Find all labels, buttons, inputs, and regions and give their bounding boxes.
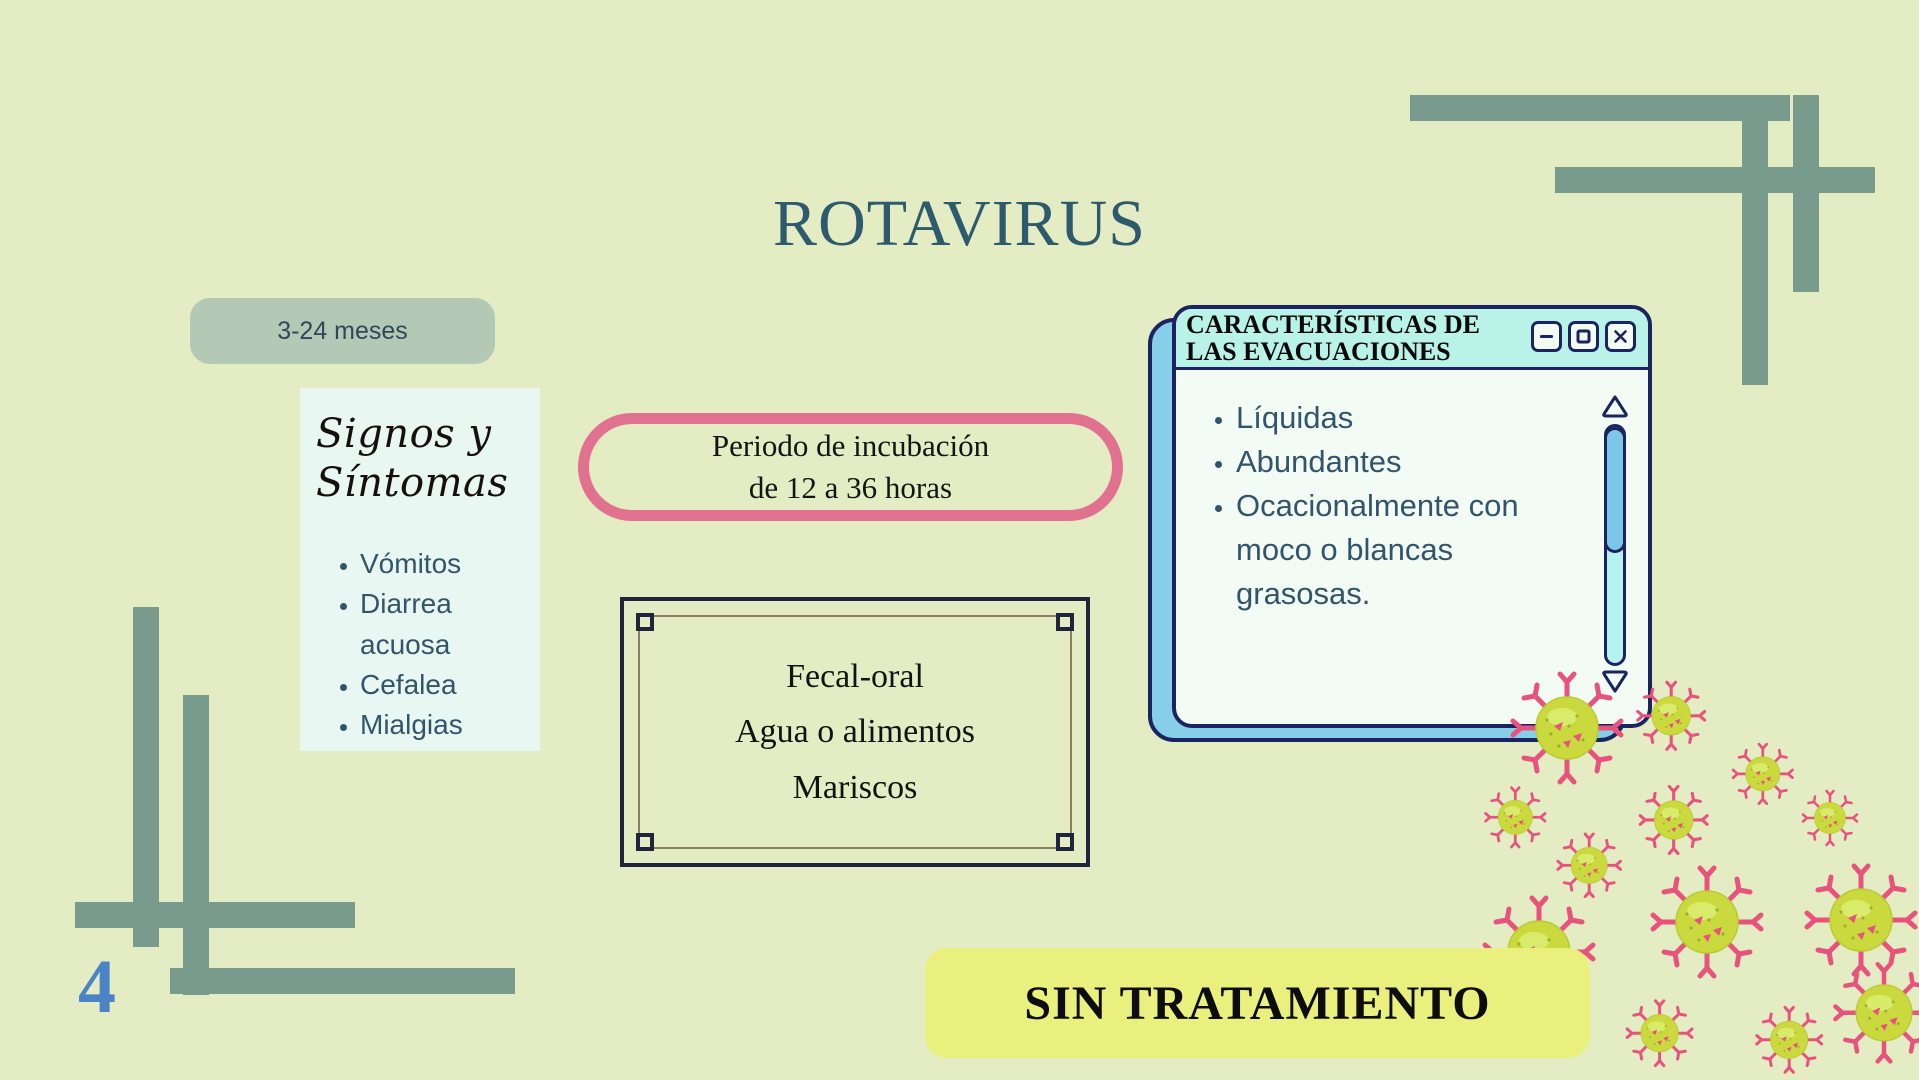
- transmission-text: Fecal-oral Agua o alimentos Mariscos: [624, 601, 1086, 863]
- decor-bar: [75, 902, 355, 928]
- list-item: Diarrea acuosa: [360, 584, 540, 665]
- no-treatment-banner: SIN TRATAMIENTO: [925, 948, 1590, 1058]
- maximize-button[interactable]: [1568, 321, 1599, 352]
- window-title: CARACTERÍSTICAS DE LAS EVACUACIONES: [1176, 311, 1506, 365]
- scroll-down-arrow-icon[interactable]: [1601, 670, 1629, 694]
- virus-particle: [1627, 1001, 1692, 1066]
- list-item: Abundantes: [1236, 440, 1566, 484]
- list-item: Ocacionalmente con moco o blancas grasos…: [1236, 484, 1566, 616]
- evacuations-window: CARACTERÍSTICAS DE LAS EVACUACIONES: [1172, 305, 1652, 728]
- window-controls: [1531, 321, 1636, 352]
- window-title-line-2: LAS EVACUACIONES: [1186, 338, 1506, 365]
- virus-particle: [1640, 786, 1707, 853]
- maximize-icon: [1576, 329, 1591, 344]
- virus-particle: [1803, 791, 1857, 845]
- decor-bar: [1410, 95, 1790, 121]
- list-item: Cefalea: [360, 665, 540, 705]
- virus-particle: [1835, 964, 1919, 1061]
- scroll-up-arrow-icon[interactable]: [1601, 394, 1629, 418]
- transmission-frame: Fecal-oral Agua o alimentos Mariscos: [620, 597, 1090, 867]
- incubation-line-1: Periodo de incubación: [712, 425, 989, 467]
- list-item: Mialgias: [360, 705, 540, 745]
- window-scrollbar[interactable]: [1600, 394, 1630, 694]
- window-body: Líquidas Abundantes Ocacionalmente con m…: [1176, 370, 1648, 727]
- virus-particle: [1558, 834, 1621, 897]
- age-range-badge: 3-24 meses: [190, 298, 495, 364]
- incubation-line-2: de 12 a 36 horas: [749, 467, 952, 509]
- transmission-line-2: Agua o alimentos: [735, 704, 975, 759]
- scrollbar-thumb[interactable]: [1604, 427, 1626, 553]
- transmission-line-1: Fecal-oral: [786, 649, 924, 704]
- transmission-line-3: Mariscos: [793, 760, 918, 815]
- virus-particle: [1486, 788, 1545, 847]
- decor-bar: [183, 695, 209, 995]
- symptoms-card: Signos y Síntomas Vómitos Diarrea acuosa…: [300, 388, 540, 751]
- symptoms-heading: Signos y Síntomas: [316, 410, 526, 508]
- close-button[interactable]: [1605, 321, 1636, 352]
- close-icon: [1613, 329, 1628, 344]
- list-item: Vómitos: [360, 544, 540, 584]
- decor-bar: [133, 607, 159, 947]
- no-treatment-label: SIN TRATAMIENTO: [1024, 976, 1490, 1031]
- virus-particle: [1653, 868, 1761, 976]
- evacuation-characteristics-list: Líquidas Abundantes Ocacionalmente con m…: [1176, 370, 1566, 616]
- symptoms-list: Vómitos Diarrea acuosa Cefalea Mialgias: [318, 544, 540, 746]
- incubation-text: Periodo de incubación de 12 a 36 horas: [578, 413, 1123, 521]
- minimize-button[interactable]: [1531, 321, 1562, 352]
- list-item: Líquidas: [1236, 396, 1566, 440]
- minimize-icon: [1539, 332, 1554, 341]
- age-range-label: 3-24 meses: [277, 317, 408, 346]
- window-title-line-1: CARACTERÍSTICAS DE: [1186, 311, 1506, 338]
- virus-particle: [1757, 1007, 1822, 1072]
- page-title: ROTAVIRUS: [0, 186, 1919, 262]
- page-number: 4: [78, 944, 116, 1031]
- virus-particle: [1807, 866, 1915, 974]
- window-titlebar[interactable]: CARACTERÍSTICAS DE LAS EVACUACIONES: [1176, 309, 1648, 370]
- slide-canvas: ROTAVIRUS 3-24 meses Signos y Síntomas V…: [0, 0, 1919, 1080]
- virus-particle: [1733, 744, 1792, 803]
- decor-bar: [170, 968, 515, 994]
